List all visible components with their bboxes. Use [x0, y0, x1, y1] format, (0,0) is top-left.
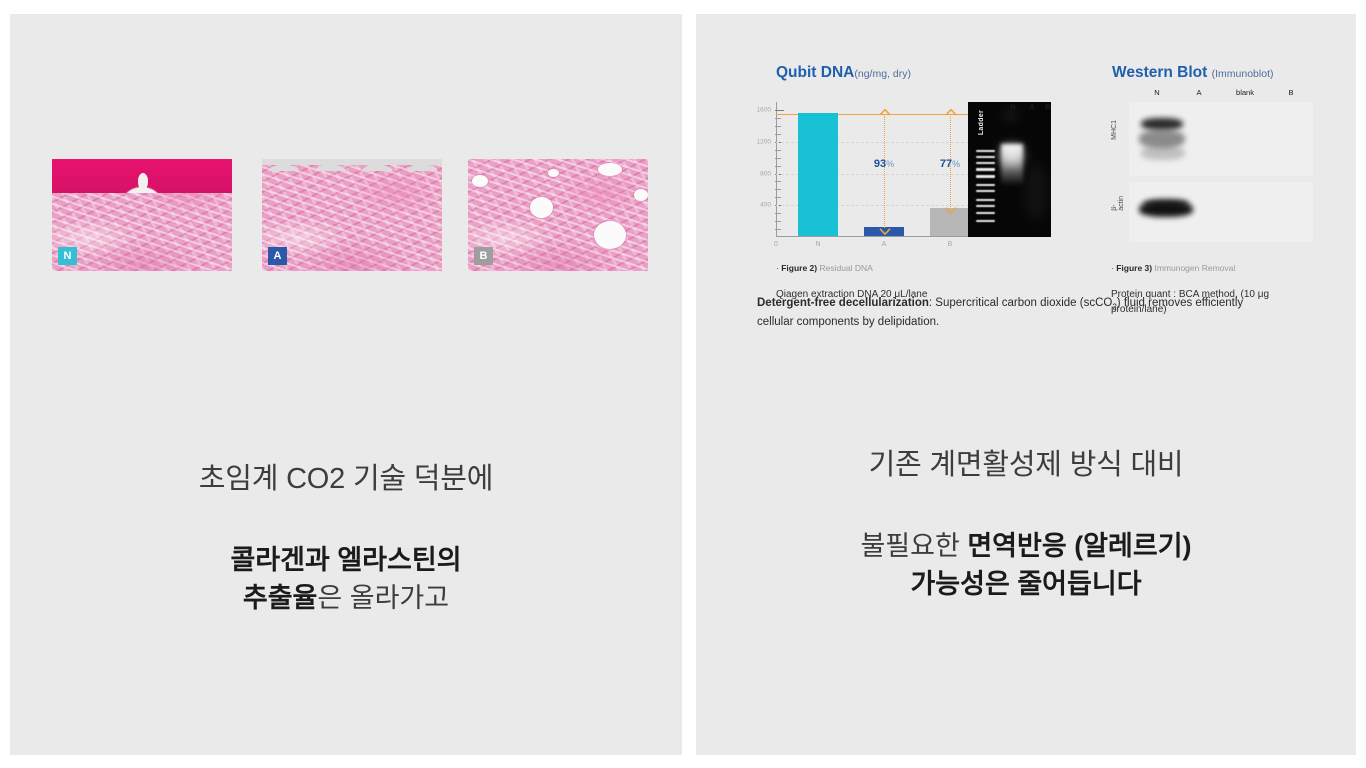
qubit-bar-chart: 1600 1200 800 400 0 N A — [776, 102, 966, 237]
wb-lane-label-n: N — [1154, 88, 1159, 97]
x-tick-label-n: N — [815, 241, 820, 248]
wb-lane-label-blank: blank — [1236, 88, 1254, 97]
figure-2-subject: Residual DNA — [817, 263, 873, 273]
slide-root: N A — [0, 0, 1366, 768]
wb-row-mhc1 — [1129, 102, 1313, 176]
qubit-title-subtitle: (ng/mg, dry) — [854, 68, 911, 80]
right-lead-text: 기존 계면활성제 방식 대비 — [696, 441, 1356, 483]
note-bold-term: Detergent-free decellularization — [757, 297, 929, 309]
chart-bar-n — [798, 113, 838, 236]
gel-lane-label-b: B — [1045, 102, 1050, 111]
histology-image-a: A — [262, 159, 442, 271]
left-main-text: 콜라겐과 엘라스틴의 추출율은 올라가고 — [10, 541, 682, 618]
wb-row-label-beta-actin: β-actin — [1111, 196, 1125, 211]
wb-lane-label-a: A — [1196, 88, 1201, 97]
annotation-label-b: 77% — [940, 158, 960, 170]
wb-row-beta-actin — [1129, 182, 1313, 242]
left-main-rest-2: 은 올라가고 — [317, 583, 449, 613]
western-blot-title: Western Blot (Immunoblot) — [1112, 64, 1273, 82]
histology-photo — [468, 159, 648, 271]
right-main-text: 불필요한 면역반응 (알레르기) 가능성은 줄어듭니다 — [696, 527, 1356, 604]
wb-row-label-mhc1: MHC1 — [1111, 120, 1118, 140]
x-tick-label-b: B — [948, 241, 953, 248]
gel-lane-label-a: A — [1029, 102, 1034, 111]
figure-3-subject: Immunogen Removal — [1152, 263, 1235, 273]
histology-badge-a: A — [268, 247, 287, 265]
figure-3-tag: Figure 3) — [1116, 263, 1152, 273]
western-title-subtitle: (Immunoblot) — [1212, 68, 1274, 80]
histology-photo — [52, 159, 232, 271]
right-main-plain-1: 불필요한 — [860, 531, 967, 561]
y-tick-label-1600: 1600 — [757, 107, 771, 114]
histology-image-b: B — [468, 159, 648, 271]
left-lead-text: 초임계 CO2 기술 덕분에 — [10, 455, 682, 497]
gel-ladder-label: Ladder — [978, 110, 985, 135]
histology-badge-n: N — [58, 247, 77, 265]
left-panel: N A — [10, 14, 682, 755]
wb-lane-label-b: B — [1288, 88, 1293, 97]
annotation-label-a: 93% — [874, 158, 894, 170]
histology-image-n: N — [52, 159, 232, 271]
y-tick-label-800: 800 — [760, 170, 771, 177]
note-text-a: : Supercritical carbon dioxide (scCO — [929, 297, 1112, 309]
decellularization-note: Detergent-free decellularization: Superc… — [757, 295, 1257, 332]
chart-y-axis — [776, 102, 777, 237]
x-tick-label-0: 0 — [774, 241, 778, 248]
left-main-bold-2: 추출율 — [243, 583, 318, 613]
right-main-bold-2: 가능성은 줄어듭니다 — [910, 569, 1141, 599]
y-tick-label-1200: 1200 — [757, 138, 771, 145]
histology-photo — [262, 159, 442, 271]
x-tick-label-a: A — [882, 241, 887, 248]
histology-image-row: N A — [44, 159, 654, 271]
qubit-dna-title: Qubit DNA(ng/mg, dry) — [776, 64, 911, 82]
histology-badge-b: B — [474, 247, 493, 265]
western-title-text: Western Blot — [1112, 64, 1207, 81]
left-main-bold-1: 콜라겐과 엘라스틴의 — [230, 545, 461, 575]
agarose-gel-image: Ladder — [968, 102, 1051, 237]
y-tick-label-400: 400 — [760, 202, 771, 209]
qubit-title-text: Qubit DNA — [776, 64, 854, 81]
figure-2-tag: Figure 2) — [781, 263, 817, 273]
right-main-bold-1: 면역반응 (알레르기) — [967, 531, 1191, 561]
annotation-arrow-a — [884, 116, 885, 228]
gel-lane-label-n: N — [1010, 102, 1015, 111]
